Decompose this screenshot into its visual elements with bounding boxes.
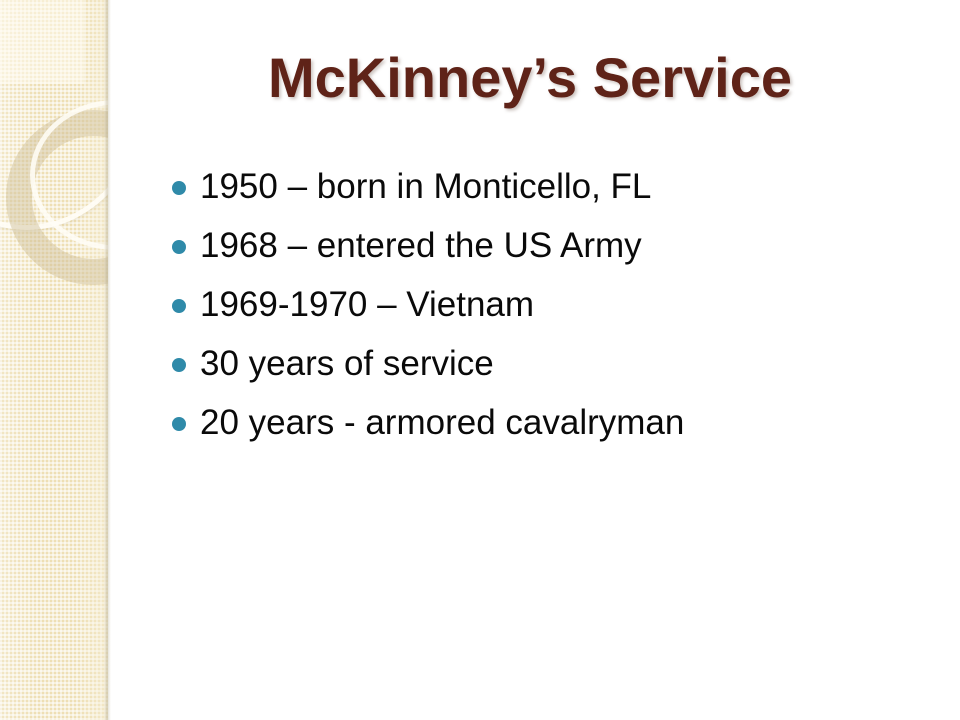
- bullet-dot-icon: [172, 181, 186, 195]
- sidebar-edge-divider: [104, 0, 111, 720]
- bullet-dot-icon: [172, 240, 186, 254]
- decorative-sidebar: [0, 0, 108, 720]
- page-title: McKinney’s Service: [120, 48, 940, 108]
- list-item-label: 1950 – born in Monticello, FL: [200, 168, 651, 207]
- list-item-label: 30 years of service: [200, 345, 494, 384]
- bullet-list: 1950 – born in Monticello, FL 1968 – ent…: [166, 158, 936, 453]
- list-item: 1968 – entered the US Army: [166, 217, 936, 276]
- bullet-dot-icon: [172, 358, 186, 372]
- list-item-label: 1968 – entered the US Army: [200, 227, 642, 266]
- list-item: 30 years of service: [166, 335, 936, 394]
- list-item: 1950 – born in Monticello, FL: [166, 158, 936, 217]
- list-item: 20 years - armored cavalryman: [166, 394, 936, 453]
- bullet-dot-icon: [172, 299, 186, 313]
- list-item-label: 1969-1970 – Vietnam: [200, 286, 534, 325]
- bullet-dot-icon: [172, 417, 186, 431]
- list-item-label: 20 years - armored cavalryman: [200, 404, 684, 443]
- presentation-slide: McKinney’s Service 1950 – born in Montic…: [0, 0, 960, 720]
- list-item: 1969-1970 – Vietnam: [166, 276, 936, 335]
